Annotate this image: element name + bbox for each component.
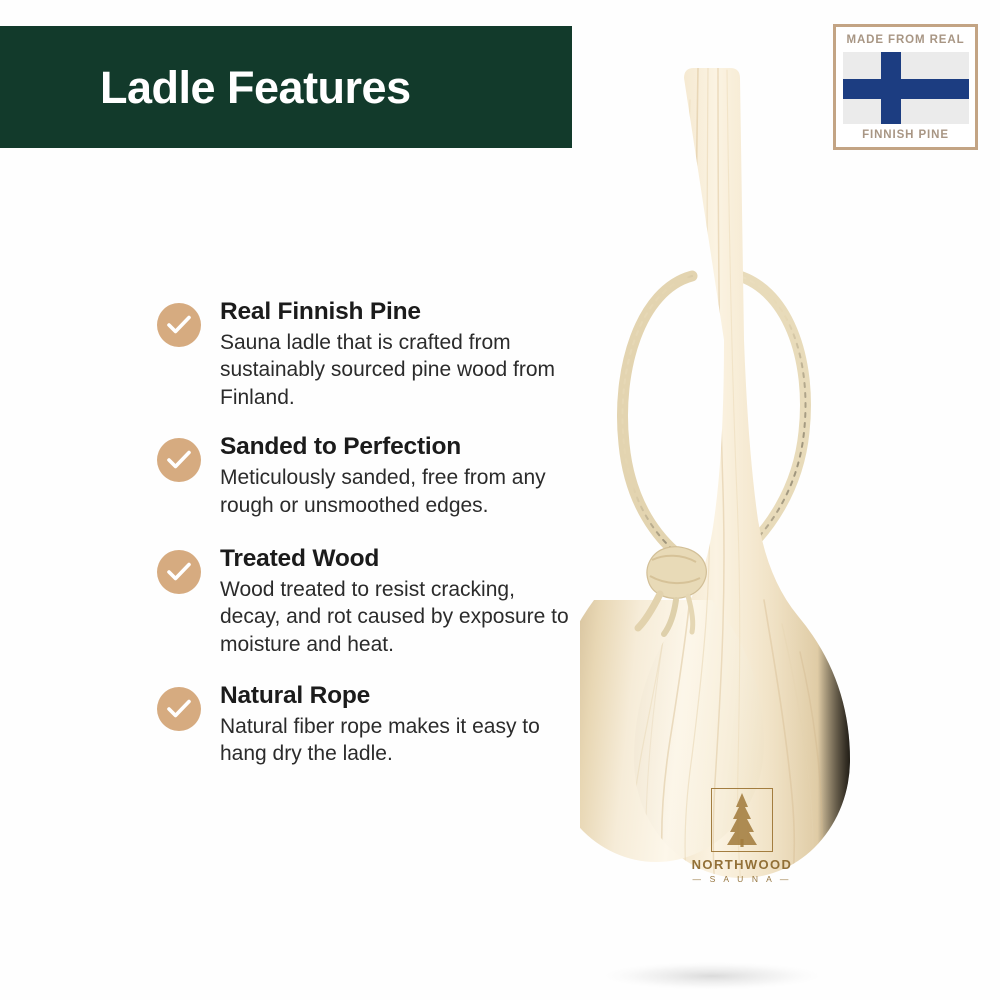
check-circle-icon: [157, 438, 201, 482]
sauna-ladle-photo: [520, 40, 960, 1000]
rope-loop: [622, 274, 805, 556]
page-title: Ladle Features: [100, 65, 411, 110]
check-circle-icon: [157, 687, 201, 731]
feature-title: Treated Wood: [220, 545, 577, 573]
infographic-canvas: Ladle Features MADE FROM REAL FINNISH PI…: [0, 0, 1000, 1000]
feature-title: Sanded to Perfection: [220, 433, 577, 461]
header-banner: Ladle Features: [0, 26, 572, 148]
feature-description: Wood treated to resist cracking, decay, …: [220, 576, 577, 658]
feature-item-natural-rope: Natural Rope Natural fiber rope makes it…: [157, 682, 577, 768]
feature-description: Meticulously sanded, free from any rough…: [220, 464, 577, 519]
feature-title: Real Finnish Pine: [220, 298, 577, 326]
feature-description: Sauna ladle that is crafted from sustain…: [220, 329, 577, 411]
ladle-illustration: [520, 40, 960, 1000]
ladle-body: [580, 40, 860, 1000]
check-circle-icon: [157, 303, 201, 347]
feature-item-treated-wood: Treated Wood Wood treated to resist crac…: [157, 545, 577, 658]
feature-item-real-finnish-pine: Real Finnish Pine Sauna ladle that is cr…: [157, 298, 577, 411]
feature-description: Natural fiber rope makes it easy to hang…: [220, 713, 577, 768]
ladle-drop-shadow: [594, 961, 830, 991]
feature-list: Real Finnish Pine Sauna ladle that is cr…: [157, 298, 577, 768]
feature-title: Natural Rope: [220, 682, 577, 710]
check-circle-icon: [157, 550, 201, 594]
feature-item-sanded-to-perfection: Sanded to Perfection Meticulously sanded…: [157, 433, 577, 519]
